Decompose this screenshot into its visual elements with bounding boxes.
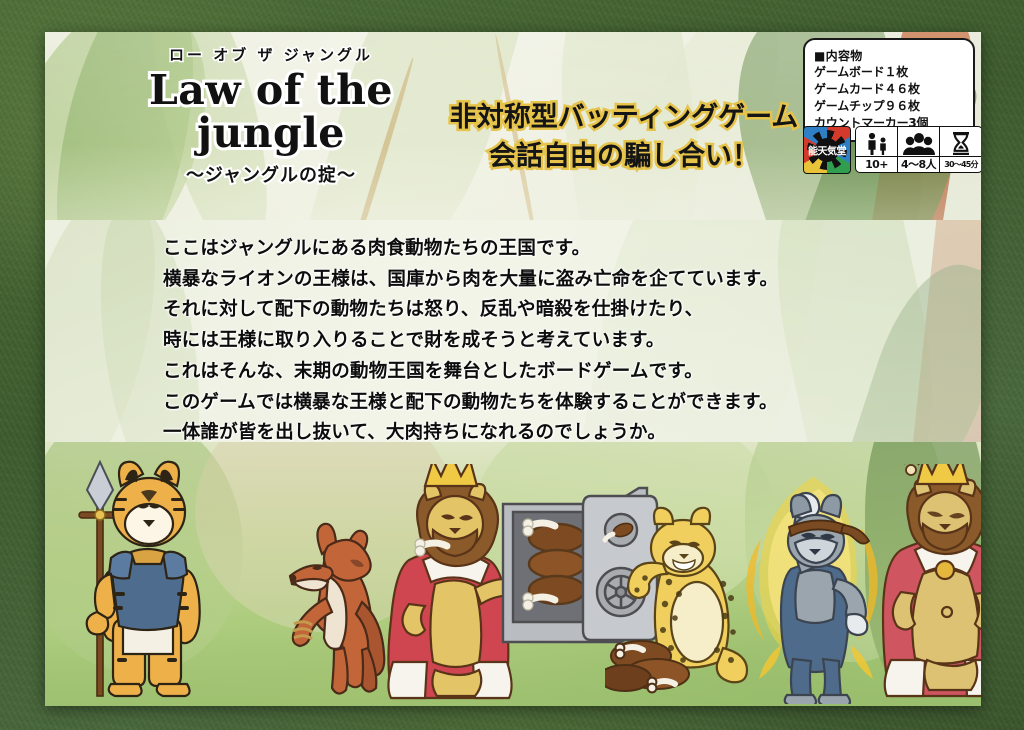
contents-heading: ■内容物 <box>814 47 964 64</box>
product-card: ロー オブ ザ ジャングル Law of the jungle 〜ジャングルの掟… <box>45 32 981 706</box>
badge-row: 能天気堂 10+ <box>803 126 981 174</box>
title-furigana: ロー オブ ザ ジャングル <box>111 44 431 65</box>
age-icon <box>862 130 892 156</box>
meat-stack <box>529 524 585 604</box>
description-band: ここはジャングルにある肉食動物たちの王国です。 横暴なライオンの王様は、国庫から… <box>45 220 981 442</box>
contents-list: ゲームボード１枚 ゲームカード４６枚 ゲームチップ９６枚 カウントマーカー3個 <box>814 64 964 132</box>
contents-item: ゲームカード４６枚 <box>814 81 964 98</box>
description-line: それに対して配下の動物たちは怒り、反乱や暗殺を仕掛けたり、 <box>163 295 941 326</box>
time-value: 30〜45分 <box>940 156 981 172</box>
players-icon <box>902 130 936 156</box>
spec-time: 30〜45分 <box>940 127 981 172</box>
crown-icon <box>425 464 477 486</box>
contents-item: ゲームボード１枚 <box>814 64 964 81</box>
spec-age: 10+ <box>856 127 898 172</box>
illustration-band <box>45 442 981 706</box>
fat-lion-king <box>865 464 981 704</box>
age-value: 10+ <box>856 156 897 172</box>
description-line: 一体誰が皆を出し抜いて、大肉持ちになれるのでしょうか。 <box>163 418 941 442</box>
players-value: 4〜8人 <box>898 156 939 172</box>
description-line: ここはジャングルにある肉食動物たちの王国です。 <box>163 234 941 265</box>
spec-icons: 10+ 4〜8人 <box>855 126 981 173</box>
tagline-line-1: 非対称型バッティングゲーム <box>443 98 805 137</box>
page-title: Law of the jungle <box>111 69 431 155</box>
description-line: これはそんな、末期の動物王国を舞台としたボードゲームです。 <box>163 357 941 388</box>
publisher-name: 能天気堂 <box>804 143 850 158</box>
description-text: ここはジャングルにある肉食動物たちの王国です。 横暴なライオンの王様は、国庫から… <box>45 220 981 442</box>
description-line: このゲームでは横暴な王様と配下の動物たちを体験することができます。 <box>163 388 941 419</box>
hourglass-icon <box>950 130 972 156</box>
title-subtitle: 〜ジャングルの掟〜 <box>111 161 431 187</box>
tagline-line-2: 会話自由の騙し合い！ <box>443 137 805 176</box>
description-line: 時には王様に取り入りることで財を成そうと考えています。 <box>163 326 941 357</box>
description-line: 横暴なライオンの王様は、国庫から肉を大量に盗み亡命を企てています。 <box>163 265 941 296</box>
spec-players: 4〜8人 <box>898 127 940 172</box>
tagline-group: 非対称型バッティングゲーム 会話自由の騙し合い！ <box>443 98 805 176</box>
tiger-guard-with-spear <box>53 452 243 702</box>
crown-icon <box>917 464 968 484</box>
contents-item: ゲームチップ９６枚 <box>814 98 964 115</box>
title-group: ロー オブ ザ ジャングル Law of the jungle 〜ジャングルの掟… <box>111 44 431 187</box>
publisher-logo: 能天気堂 <box>803 126 851 174</box>
